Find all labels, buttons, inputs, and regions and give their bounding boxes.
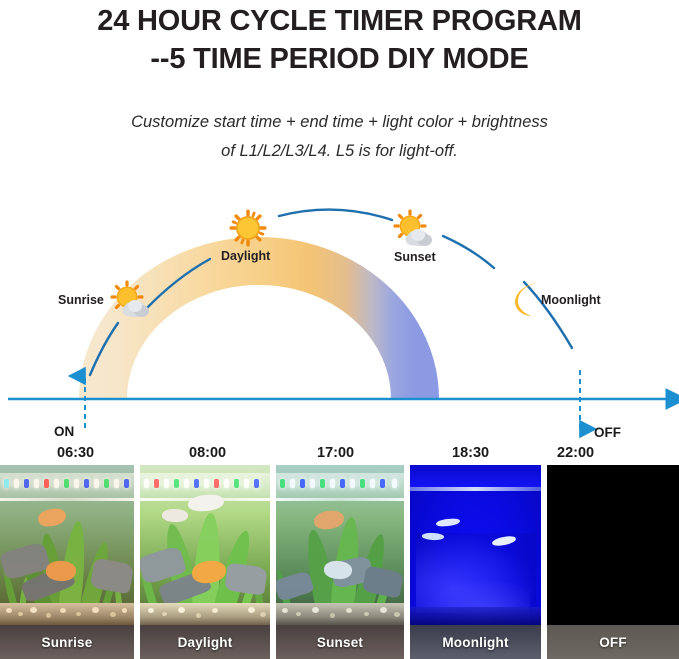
infographic-page: 24 HOUR CYCLE TIMER PROGRAM --5 TIME PER… [0, 0, 679, 659]
photo-caption-off: OFF [547, 625, 679, 659]
diagram-graphics [0, 180, 679, 465]
photo-caption-moonlight: Moonlight [410, 625, 541, 659]
photo-panel-sunset[interactable]: Sunset [276, 465, 404, 659]
sun-behind-cloud-icon [110, 280, 152, 322]
time-tick-2200: 22:00 [557, 445, 594, 461]
day-cycle-diagram: Sunrise [0, 180, 679, 465]
crescent-moon-icon [508, 280, 542, 318]
subtitle-line-1: Customize start time + end time + light … [0, 108, 679, 137]
photo-caption-sunset: Sunset [276, 625, 404, 659]
phase-label-sunset: Sunset [394, 250, 436, 264]
time-tick-0630: 06:30 [57, 445, 94, 461]
sun-behind-cloud-icon-sunset [393, 209, 435, 251]
photo-caption-daylight: Daylight [140, 625, 270, 659]
phase-label-sunrise: Sunrise [58, 293, 104, 307]
page-subtitle: Customize start time + end time + light … [0, 108, 679, 166]
photo-strip: Sunrise [0, 465, 679, 659]
on-label: ON [54, 424, 74, 439]
time-tick-1830: 18:30 [452, 445, 489, 461]
time-tick-1700: 17:00 [317, 445, 354, 461]
title-line-1: 24 HOUR CYCLE TIMER PROGRAM [0, 2, 679, 40]
photo-panel-off[interactable]: OFF [547, 465, 679, 659]
phase-label-moonlight: Moonlight [541, 293, 601, 307]
phase-label-daylight: Daylight [221, 249, 270, 263]
fish [436, 518, 461, 527]
photo-panel-moonlight[interactable]: Moonlight [410, 465, 541, 659]
photo-panel-sunrise[interactable]: Sunrise [0, 465, 134, 659]
subtitle-line-2: of L1/L2/L3/L4. L5 is for light-off. [0, 137, 679, 166]
time-tick-0800: 08:00 [189, 445, 226, 461]
page-title: 24 HOUR CYCLE TIMER PROGRAM --5 TIME PER… [0, 2, 679, 78]
sun-icon [228, 208, 268, 248]
photo-panel-daylight[interactable]: Daylight [140, 465, 270, 659]
daylight-arc-band [85, 246, 429, 399]
off-label: OFF [594, 425, 621, 440]
photo-caption-sunrise: Sunrise [0, 625, 134, 659]
title-line-2: --5 TIME PERIOD DIY MODE [0, 40, 679, 78]
